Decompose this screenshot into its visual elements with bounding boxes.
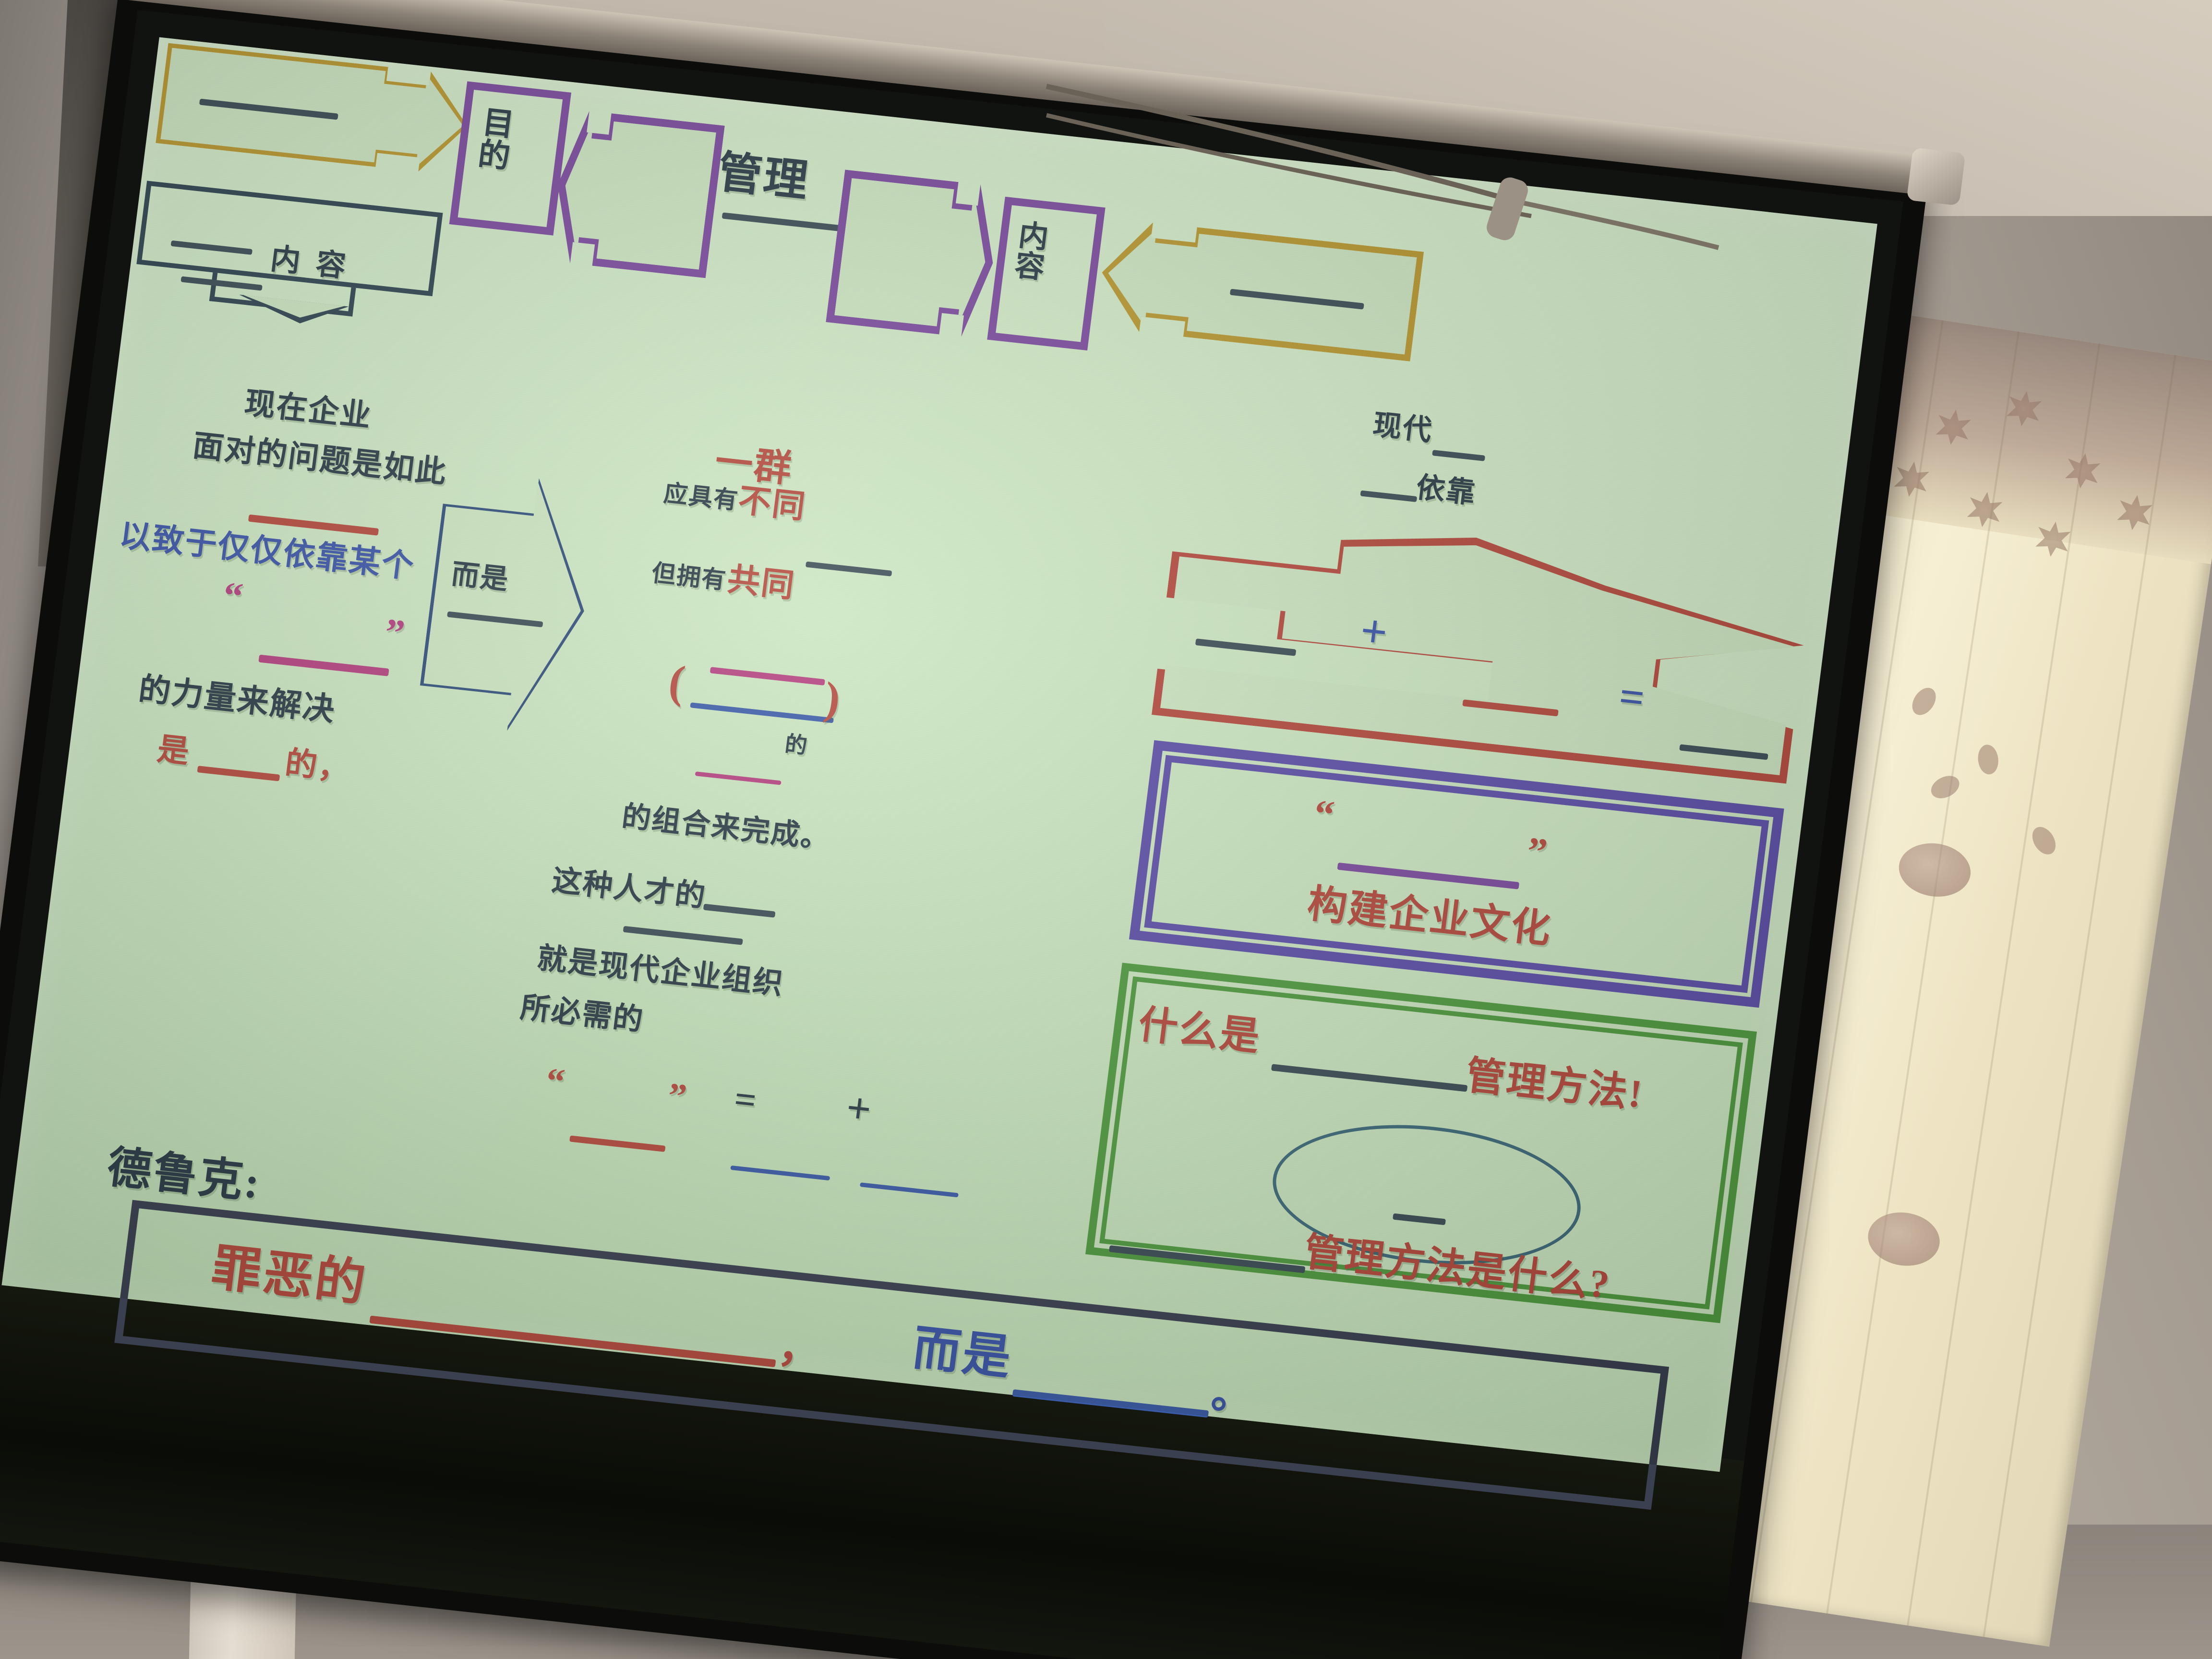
formula-equals: = [732,1077,760,1123]
right-top-line1-a: 现代 [1371,401,1436,449]
middle-line2-blank [805,561,892,576]
middle-paren-blank-bottom [690,702,834,723]
left-col-quote-close: ” [382,611,408,656]
middle-paren-open: ( [666,654,690,709]
middle-arrow-shape [416,469,601,737]
formula-term-a [730,1166,830,1180]
left-col-line5-blank [197,766,280,781]
formula-plus: + [843,1083,876,1135]
middle-line2-b: 共同 [725,552,798,607]
middle-de-label: 的 [783,726,810,760]
right-top-line1-blank [1432,450,1485,461]
flow-left-pointing-arrow [548,108,725,278]
bottom-period: 。 [1209,1359,1259,1423]
middle-paren-blank-top [710,667,825,685]
middle-line6: 所必需的 [518,983,647,1039]
ceiling-wires [1046,58,1719,259]
middle-line4-a: 这种人才的 [550,856,709,915]
middle-line2-a: 但拥有 [650,553,729,596]
right-top-line2-blank [1360,490,1417,502]
left-col-line4-blank [258,655,389,676]
formula-quote-open: “ [543,1060,568,1104]
formula-quote-blank [569,1135,665,1152]
right-top-line2-b: 依靠 [1414,464,1479,512]
middle-paren-close: ) [821,671,845,726]
formula-quote-close: ” [665,1075,690,1118]
middle-line4-blank [703,904,776,918]
bottom-comma: ， [775,1311,828,1378]
flow-right-pointing-arrow [826,169,1002,339]
middle-arrow-label: 而是 [449,551,512,597]
bottom-attribution: 德鲁克: [104,1131,265,1211]
content-tab-label: 内 容 [268,234,353,286]
photo-scene: 目的 管理 内容 [0,0,2212,1659]
middle-line5-blank [623,926,743,945]
left-col-line-4: 的力量来解决 [136,663,338,730]
left-col-line-2: 面对的问题是如此 [191,421,450,492]
middle-line1-b: 不同 [736,473,809,528]
screen-roller-end-cap [1907,147,1966,205]
flow-center-label: 管理 [714,136,814,209]
middle-line3: 的组合来完成。 [620,793,833,857]
left-col-quote-open: “ [220,574,246,619]
flow-center-blank [722,212,842,231]
left-col-line-1: 现在企业 [242,378,375,436]
formula-term-b [860,1182,959,1197]
middle-line1-a: 应具有 [662,474,741,516]
middle-lower-blank [695,771,781,785]
left-col-line5-a: 是 [155,723,193,772]
bottom-phrase-b: 而是 [909,1309,1017,1388]
left-col-line5-b: 的， [283,737,354,790]
purple-culture-box [1129,740,1784,1008]
